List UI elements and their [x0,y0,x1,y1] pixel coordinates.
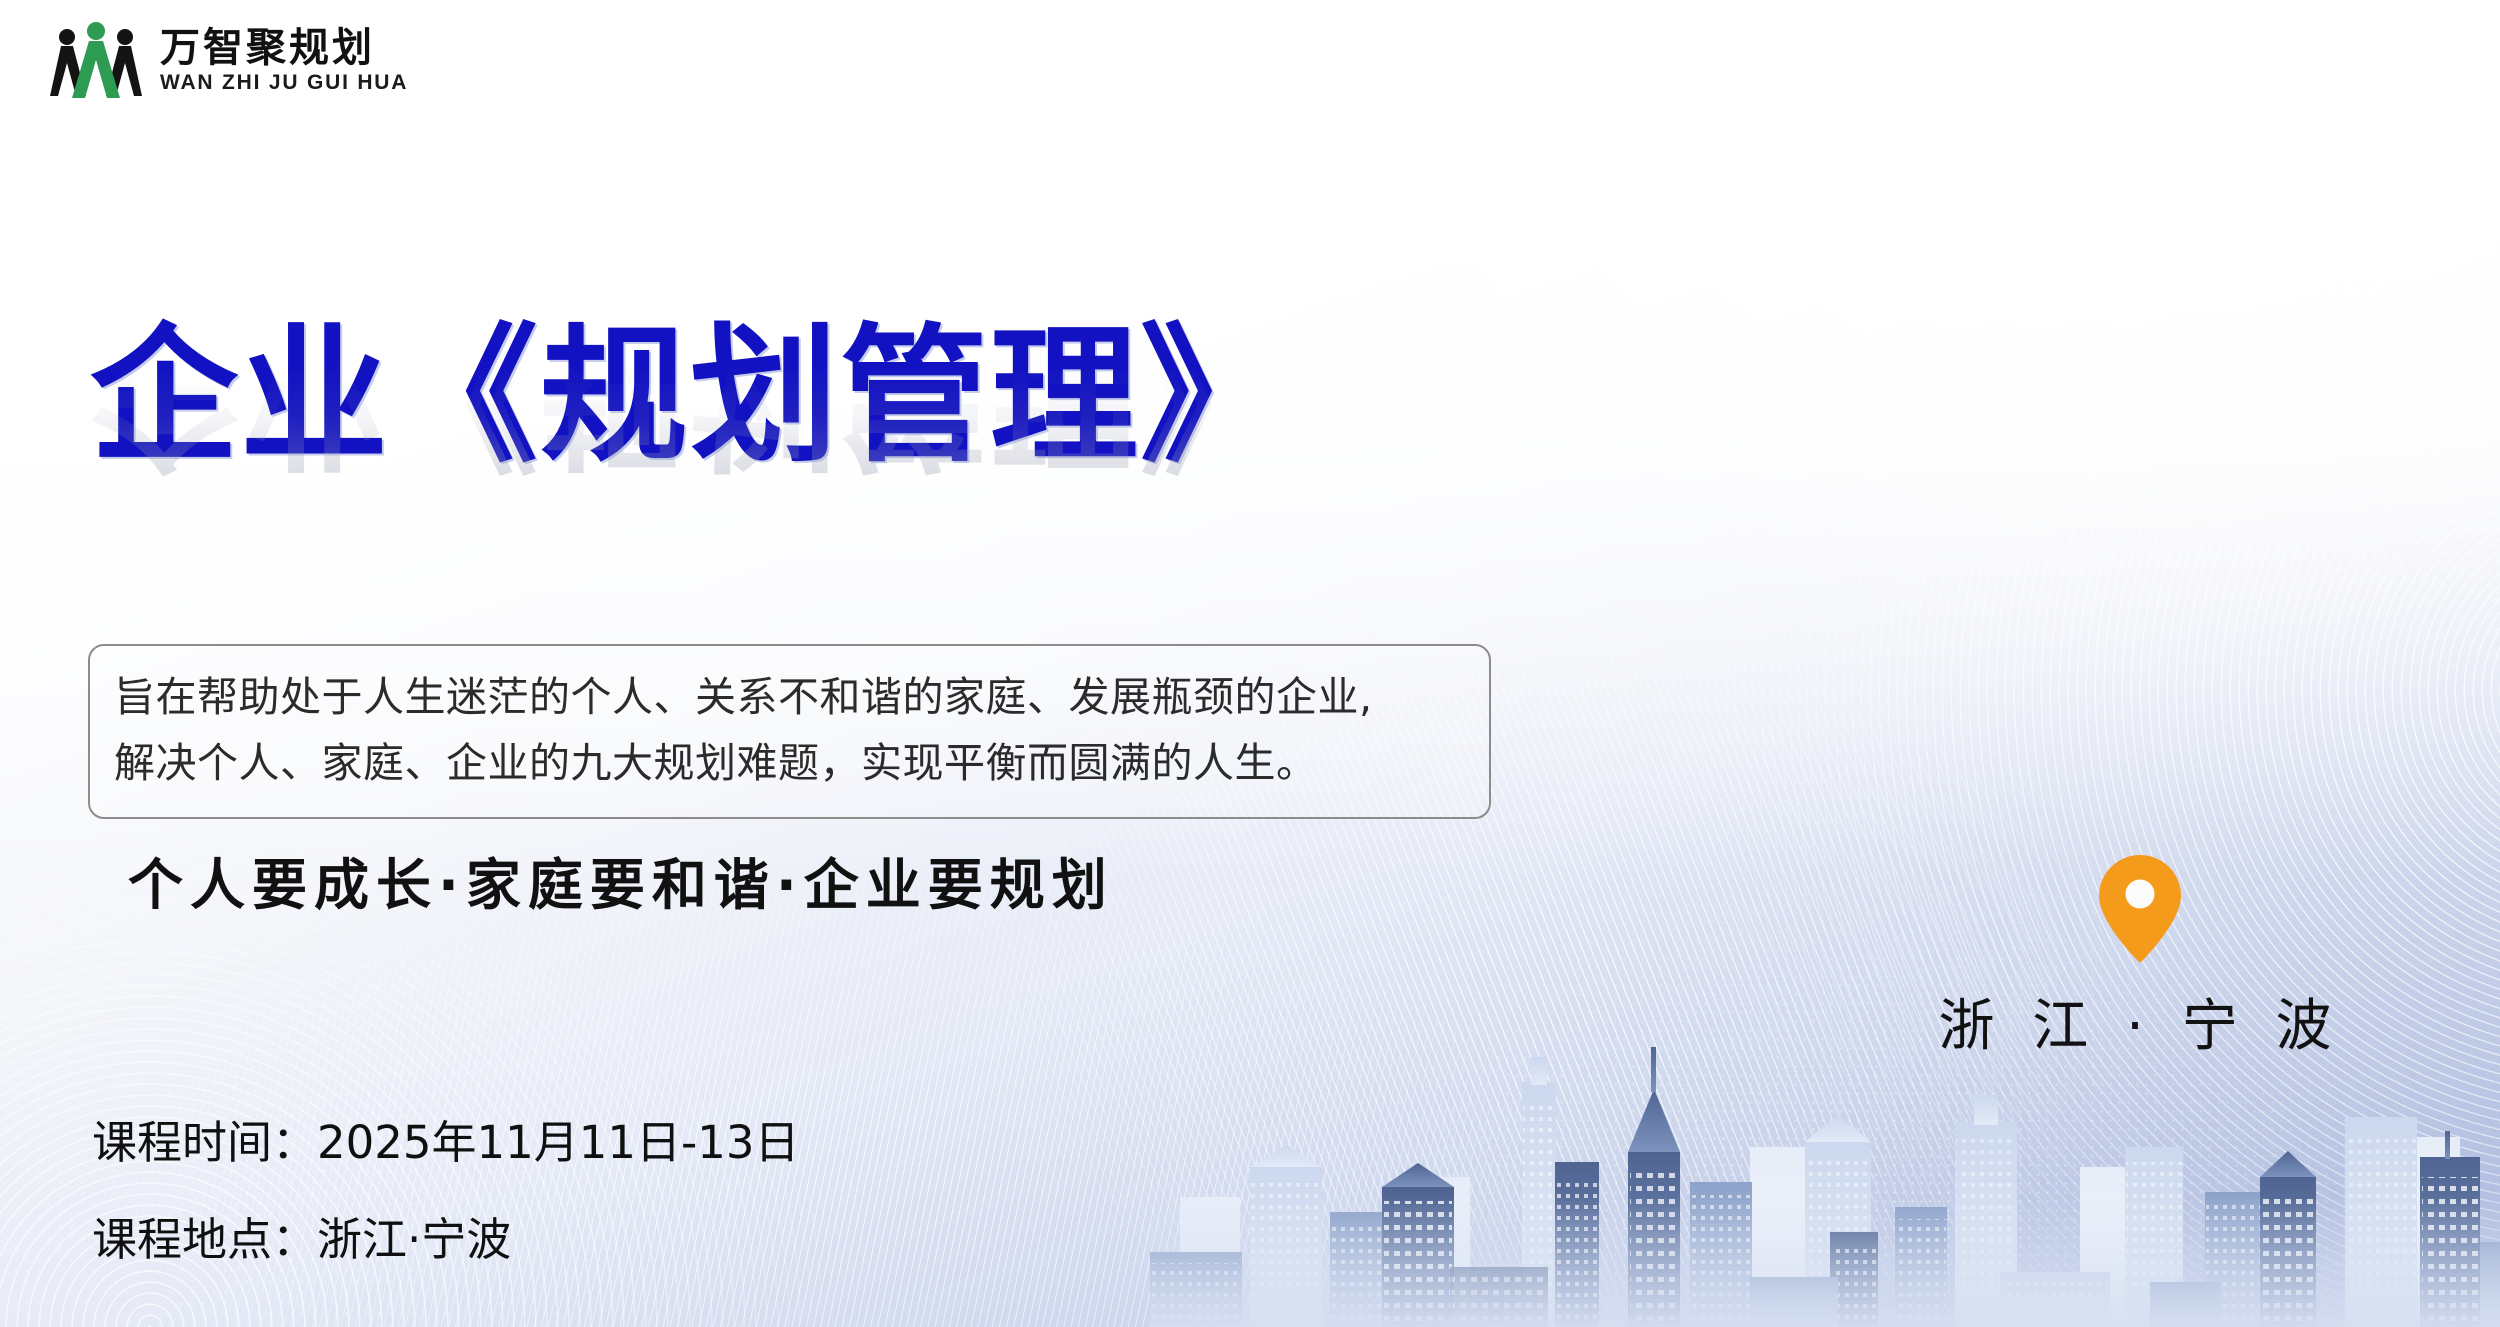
tagline: 个人要成长·家庭要和谐·企业要规划 [128,840,1114,920]
hero-title-block: 企业《规划管理》 企业《规划管理》 [90,318,1650,634]
description-line-1: 旨在帮助处于人生迷茫的个人、关系不和谐的家庭、发展瓶颈的企业, [114,664,1467,730]
description-line-2: 解决个人、家庭、企业的九大规划难题，实现平衡而圆满的人生。 [114,730,1467,796]
course-info: 课程时间：2025年11月11日-13日 课程地点：浙江·宁波 [92,1120,800,1262]
brand-name-cn: 万智聚规划 [160,27,408,69]
three-people-m-logo-icon [50,18,142,104]
brand-logo: 万智聚规划 WAN ZHI JU GUI HUA [50,18,408,104]
brand-logo-text: 万智聚规划 WAN ZHI JU GUI HUA [160,27,408,94]
poster-canvas: 万智聚规划 WAN ZHI JU GUI HUA 企业《规划管理》 企业《规划管… [0,0,2500,1327]
description-box: 旨在帮助处于人生迷茫的个人、关系不和谐的家庭、发展瓶颈的企业, 解决个人、家庭、… [88,644,1491,819]
course-time: 课程时间：2025年11月11日-13日 [92,1120,800,1165]
location-block: 浙 江 · 宁 波 [1930,855,2350,1062]
map-pin-icon [2099,855,2181,963]
course-place: 课程地点：浙江·宁波 [92,1217,800,1262]
city-skyline-icon [1150,1027,2500,1327]
page-title-reflection: 企业《规划管理》 [90,320,1650,477]
location-label: 浙 江 · 宁 波 [1930,981,2350,1062]
brand-name-en: WAN ZHI JU GUI HUA [160,71,408,94]
